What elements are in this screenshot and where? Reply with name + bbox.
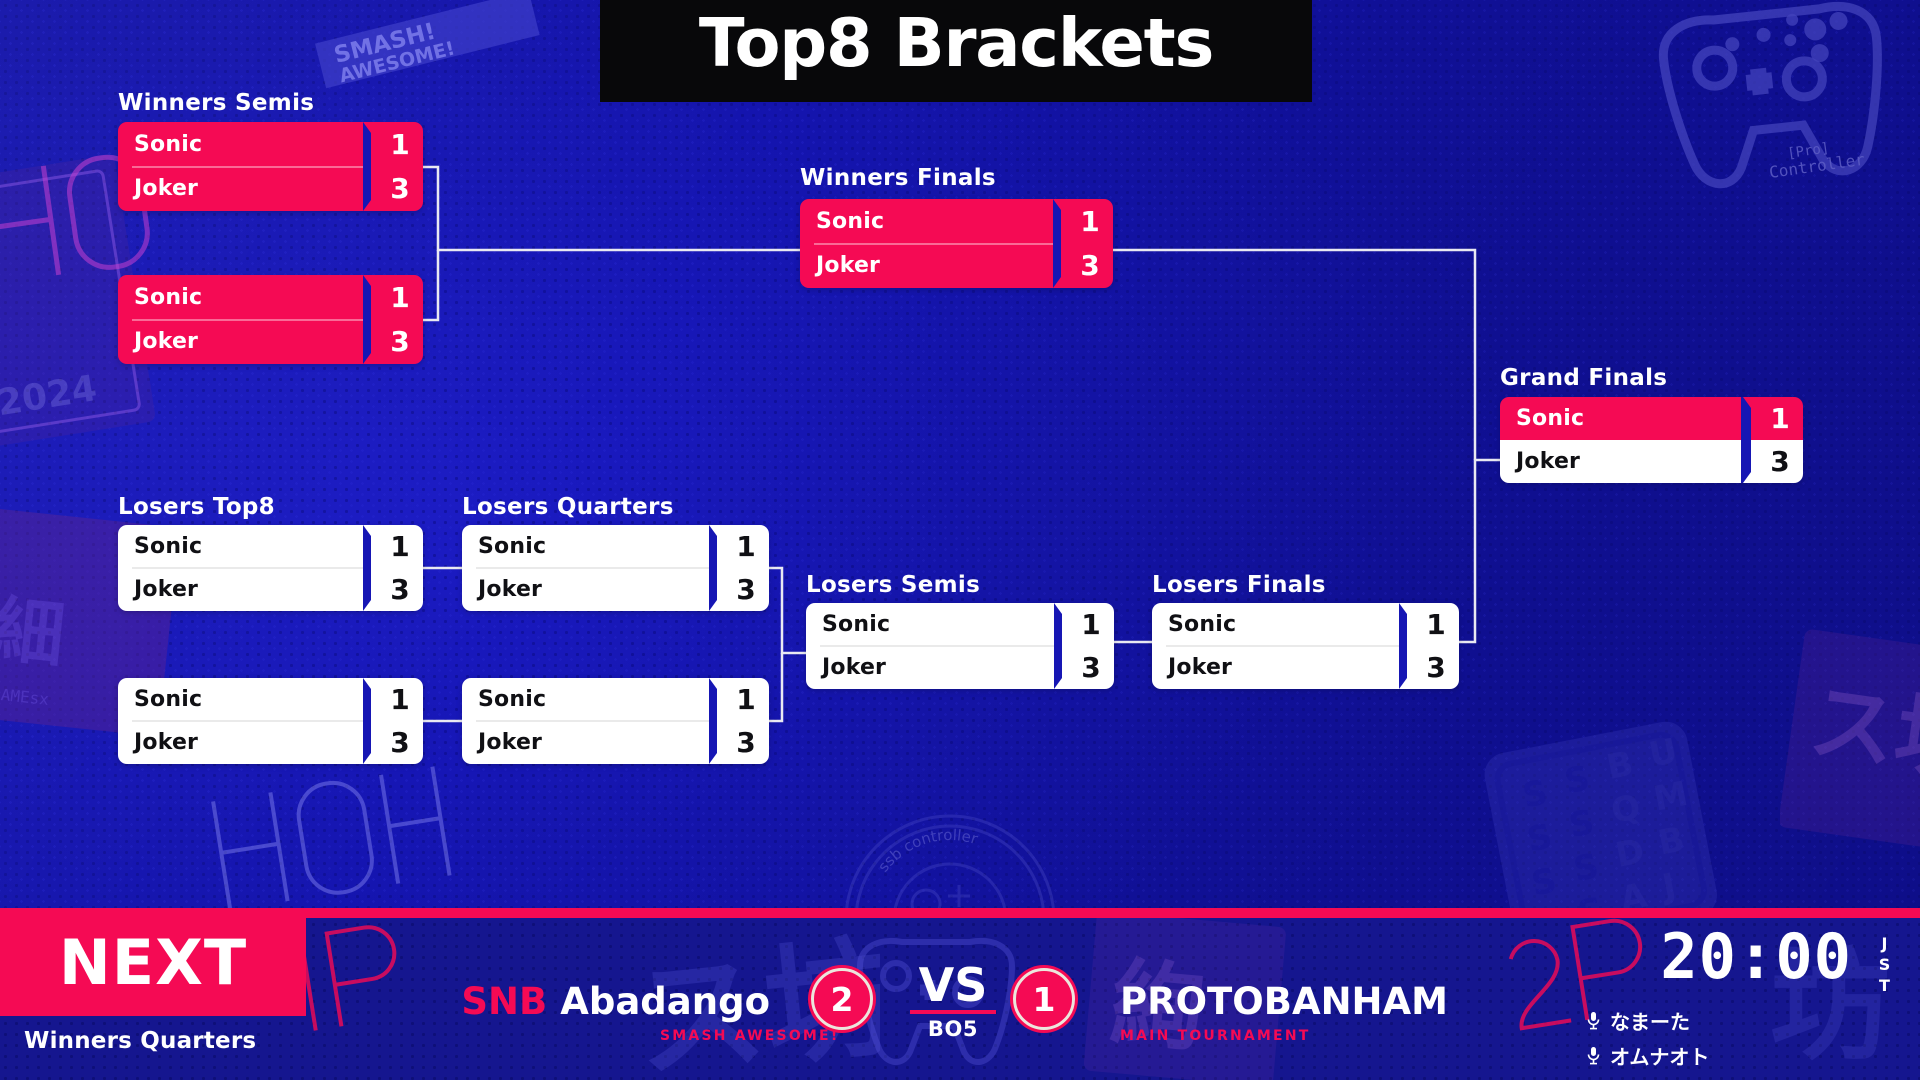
player2-name: PROTOBANHAM xyxy=(1120,980,1448,1023)
match-losers-finals[interactable]: Sonic 1 Joker 3 xyxy=(1152,603,1459,689)
player-score: 1 xyxy=(377,530,423,563)
page-title-banner: Top8 Brackets xyxy=(600,0,1312,102)
match-losers-top8-2[interactable]: Sonic 1 Joker 3 xyxy=(118,678,423,764)
match-row[interactable]: Joker 3 xyxy=(1500,440,1803,483)
match-losers-semis[interactable]: Sonic 1 Joker 3 xyxy=(806,603,1114,689)
versus-block: VS BO5 xyxy=(898,964,1008,1041)
player-score: 3 xyxy=(377,726,423,759)
player-name: Joker xyxy=(1152,655,1413,680)
player-score: 1 xyxy=(723,683,769,716)
player-name: Sonic xyxy=(118,534,377,559)
player-name: Joker xyxy=(118,577,377,602)
player2-name-block: PROTOBANHAM xyxy=(1120,980,1448,1023)
round-label-losers-semis: Losers Semis xyxy=(806,572,980,598)
clock-and-casters: 20:00 JST なまーた オムナオト xyxy=(1568,922,1898,1072)
match-row[interactable]: Sonic 1 xyxy=(118,678,423,721)
player-score: 1 xyxy=(377,281,423,314)
player2-score-badge: 1 xyxy=(1013,968,1075,1030)
player-score: 3 xyxy=(377,172,423,205)
match-row[interactable]: Sonic 1 xyxy=(1152,603,1459,646)
versus-label: VS xyxy=(898,964,1008,1008)
player-name: Joker xyxy=(806,655,1068,680)
player-name: Sonic xyxy=(806,612,1068,637)
caster-name: なまーた xyxy=(1610,1006,1690,1035)
player-name: Sonic xyxy=(118,132,377,157)
caster-entry-1: なまーた xyxy=(1586,1006,1690,1035)
player-score: 1 xyxy=(1068,608,1114,641)
page-title: Top8 Brackets xyxy=(699,10,1213,77)
player-score: 3 xyxy=(377,325,423,358)
match-row[interactable]: Sonic 1 xyxy=(800,199,1113,244)
caster-entry-2: オムナオト xyxy=(1586,1041,1709,1070)
player-name: Sonic xyxy=(800,209,1067,234)
match-row[interactable]: Sonic 1 xyxy=(1500,397,1803,440)
bottom-status-bar: ス坊 絢 坊 NEXT Winners Quarters SNBAbadango xyxy=(0,908,1920,1080)
caster-name: オムナオト xyxy=(1610,1041,1709,1070)
match-row[interactable]: Joker 3 xyxy=(118,721,423,764)
versus-area: SNBAbadango SMASH AWESOME! 2 VS BO5 1 PR… xyxy=(430,922,1500,1080)
player-name: Sonic xyxy=(462,534,723,559)
match-row[interactable]: Joker 3 xyxy=(118,568,423,611)
match-row[interactable]: Joker 3 xyxy=(1152,646,1459,689)
next-label-block: NEXT xyxy=(0,908,306,1016)
next-round-label: Winners Quarters xyxy=(24,1028,256,1054)
match-row[interactable]: Sonic 1 xyxy=(118,275,423,320)
round-label-losers-finals: Losers Finals xyxy=(1152,572,1326,598)
player-score: 1 xyxy=(1413,608,1459,641)
match-row[interactable]: Sonic 1 xyxy=(118,525,423,568)
match-winners-semis-2[interactable]: Sonic 1 Joker 3 xyxy=(118,275,423,364)
match-row[interactable]: Joker 3 xyxy=(800,244,1113,289)
match-losers-quarters-1[interactable]: Sonic 1 Joker 3 xyxy=(462,525,769,611)
round-label-losers-top8: Losers Top8 xyxy=(118,494,275,520)
player-score: 3 xyxy=(1757,445,1803,478)
player-score: 3 xyxy=(1068,651,1114,684)
round-label-losers-quarters: Losers Quarters xyxy=(462,494,674,520)
player-score: 3 xyxy=(1067,249,1113,282)
match-row[interactable]: Sonic 1 xyxy=(462,525,769,568)
best-of-label: BO5 xyxy=(898,1017,1008,1041)
round-label-winners-finals: Winners Finals xyxy=(800,165,996,191)
player-score: 1 xyxy=(377,128,423,161)
player-score: 1 xyxy=(1067,205,1113,238)
round-label-grand-finals: Grand Finals xyxy=(1500,365,1667,391)
match-row[interactable]: Joker 3 xyxy=(118,167,423,212)
player-score: 1 xyxy=(1757,402,1803,435)
player1-score-badge: 2 xyxy=(811,968,873,1030)
match-winners-finals[interactable]: Sonic 1 Joker 3 xyxy=(800,199,1113,288)
player-name: Sonic xyxy=(462,687,723,712)
player-name: Joker xyxy=(118,176,377,201)
round-label-winners-semis: Winners Semis xyxy=(118,90,314,116)
player-score: 3 xyxy=(1413,651,1459,684)
match-row[interactable]: Joker 3 xyxy=(118,320,423,365)
match-winners-semis-1[interactable]: Sonic 1 Joker 3 xyxy=(118,122,423,211)
player-name: Joker xyxy=(462,577,723,602)
match-row[interactable]: Sonic 1 xyxy=(462,678,769,721)
player-score: 1 xyxy=(723,530,769,563)
player-name: Joker xyxy=(118,730,377,755)
match-grand-finals[interactable]: Sonic 1 Joker 3 xyxy=(1500,397,1803,483)
match-row[interactable]: Joker 3 xyxy=(462,721,769,764)
player-name: Sonic xyxy=(118,285,377,310)
player-score: 3 xyxy=(723,726,769,759)
start-time: 20:00 xyxy=(1660,926,1852,988)
player-name: Sonic xyxy=(1500,406,1757,431)
broadcast-overlay: [Pro] Controller SMASH! AWESOME! 2024 細 … xyxy=(0,0,1920,1080)
player-name: Joker xyxy=(462,730,723,755)
timezone-label: JST xyxy=(1875,934,1894,997)
match-losers-top8-1[interactable]: Sonic 1 Joker 3 xyxy=(118,525,423,611)
microphone-icon xyxy=(1586,1011,1601,1030)
player-name: Sonic xyxy=(1152,612,1413,637)
microphone-icon xyxy=(1586,1046,1601,1065)
player1-name: Abadango xyxy=(560,980,770,1023)
player-score: 1 xyxy=(377,683,423,716)
player1-tag: SNB xyxy=(461,980,547,1023)
player1-subtitle: SMASH AWESOME! xyxy=(660,1028,839,1044)
match-row[interactable]: Joker 3 xyxy=(806,646,1114,689)
player-score: 3 xyxy=(723,573,769,606)
player-name: Joker xyxy=(118,329,377,354)
match-row[interactable]: Sonic 1 xyxy=(118,122,423,167)
player1-name-block: SNBAbadango xyxy=(461,980,770,1023)
match-row[interactable]: Sonic 1 xyxy=(806,603,1114,646)
player-score: 3 xyxy=(377,573,423,606)
player2-subtitle: MAIN TOURNAMENT xyxy=(1120,1028,1310,1044)
next-label: NEXT xyxy=(59,926,247,999)
player-name: Joker xyxy=(800,253,1067,278)
player-name: Sonic xyxy=(118,687,377,712)
match-losers-quarters-2[interactable]: Sonic 1 Joker 3 xyxy=(462,678,769,764)
match-row[interactable]: Joker 3 xyxy=(462,568,769,611)
player-name: Joker xyxy=(1500,449,1757,474)
